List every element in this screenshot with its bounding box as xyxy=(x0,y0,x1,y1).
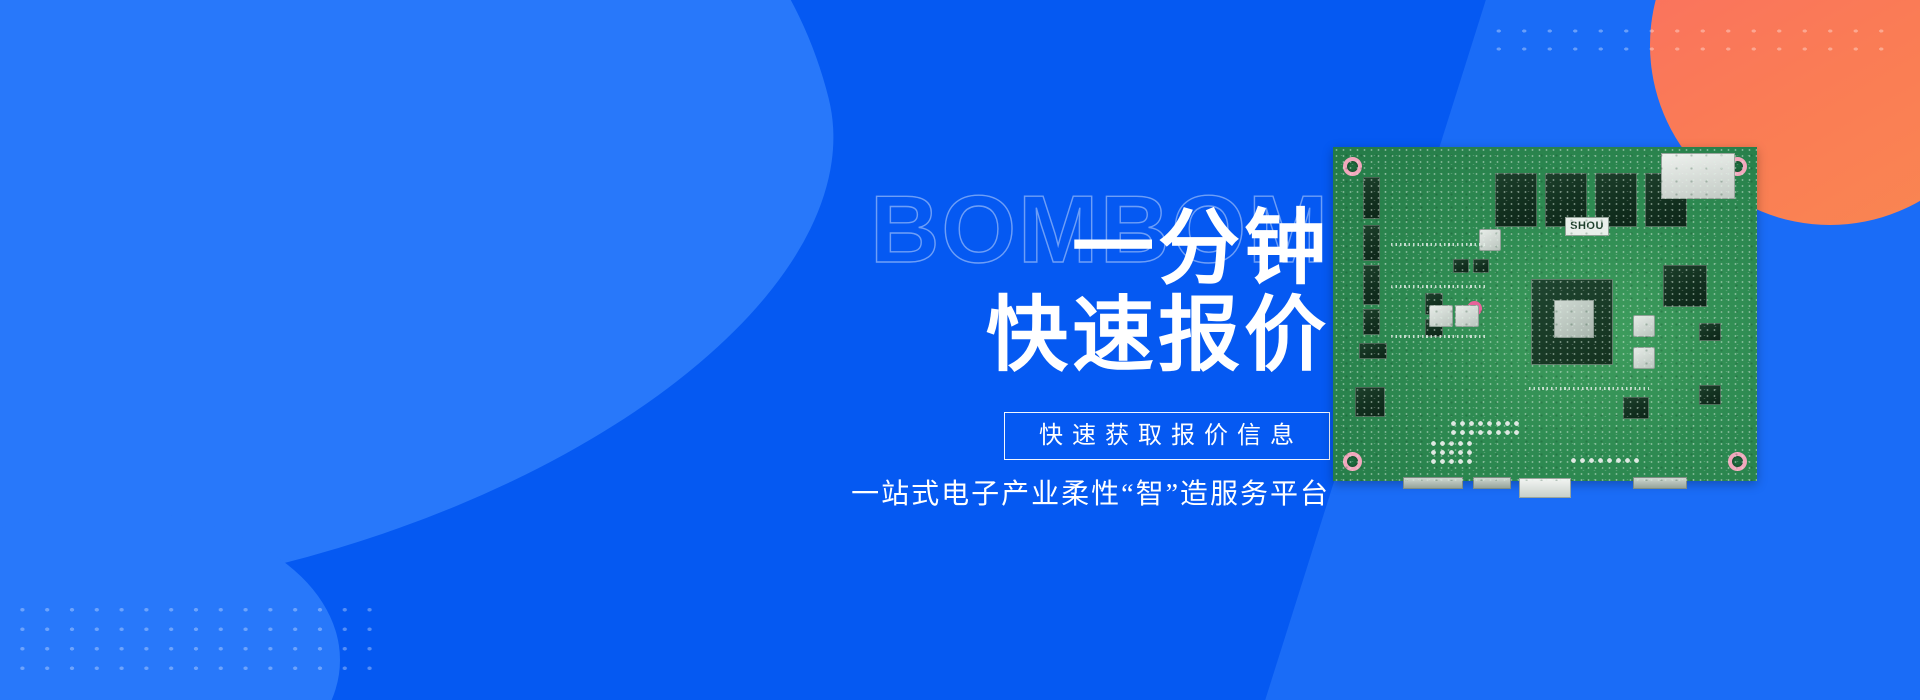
page-title: 一分钟 快速报价 xyxy=(0,0,1340,380)
dot-grid-top-right xyxy=(1486,22,1894,52)
flash-chip xyxy=(1663,265,1707,307)
port-lan xyxy=(1633,477,1687,489)
ic-left-4 xyxy=(1363,309,1380,335)
ic-left-1 xyxy=(1363,177,1380,219)
memory-chip-1 xyxy=(1495,173,1537,227)
port-vga xyxy=(1403,477,1463,489)
ic-left-6 xyxy=(1355,387,1385,417)
headline-line-1: 一分钟 xyxy=(0,205,1330,294)
ic-left-5 xyxy=(1359,343,1387,359)
trace-1 xyxy=(1391,243,1487,246)
cta-row: 快速获取报价信息 xyxy=(0,412,1340,460)
get-quote-button[interactable]: 快速获取报价信息 xyxy=(1004,412,1330,460)
trace-2 xyxy=(1391,285,1487,288)
trace-4 xyxy=(1529,387,1649,390)
cpu-chip xyxy=(1531,279,1613,365)
hero-copy: BOMBOM 一分钟 快速报价 快速获取报价信息 一站式电子产业柔性“智”造服务… xyxy=(0,0,1340,700)
inductor-5 xyxy=(1633,347,1655,369)
hero-banner: BOMBOM 一分钟 快速报价 快速获取报价信息 一站式电子产业柔性“智”造服务… xyxy=(0,0,1920,700)
pcb-motherboard-image: SHOU xyxy=(1333,147,1757,481)
inductor-3 xyxy=(1479,229,1501,251)
pad-array-3 xyxy=(1569,456,1639,467)
ic-right-1 xyxy=(1699,323,1721,341)
inductor-2 xyxy=(1455,305,1479,327)
mounting-hole-bottom-right xyxy=(1728,452,1747,471)
mounting-hole-top-left xyxy=(1343,157,1362,176)
ic-mid-3 xyxy=(1453,259,1469,273)
headline-line-2: 快速报价 xyxy=(0,292,1330,381)
pad-array-2 xyxy=(1429,439,1475,467)
edge-connector xyxy=(1519,478,1571,498)
sim-card-connector xyxy=(1661,153,1735,199)
inductor-4 xyxy=(1633,315,1655,337)
pad-array-1 xyxy=(1449,419,1523,439)
ic-lower-1 xyxy=(1623,397,1649,419)
ic-left-2 xyxy=(1363,225,1380,261)
inductor-1 xyxy=(1429,305,1453,327)
ic-mid-4 xyxy=(1473,259,1489,273)
silkscreen-logo: SHOU xyxy=(1565,217,1609,236)
trace-3 xyxy=(1391,335,1487,338)
tagline: 一站式电子产业柔性“智”造服务平台 xyxy=(0,478,1340,512)
pcb-substrate: SHOU xyxy=(1333,147,1757,481)
port-usb xyxy=(1473,477,1511,489)
ic-right-2 xyxy=(1699,385,1721,405)
mounting-hole-bottom-left xyxy=(1343,452,1362,471)
ic-left-3 xyxy=(1363,265,1380,305)
cpu-die xyxy=(1554,300,1594,338)
